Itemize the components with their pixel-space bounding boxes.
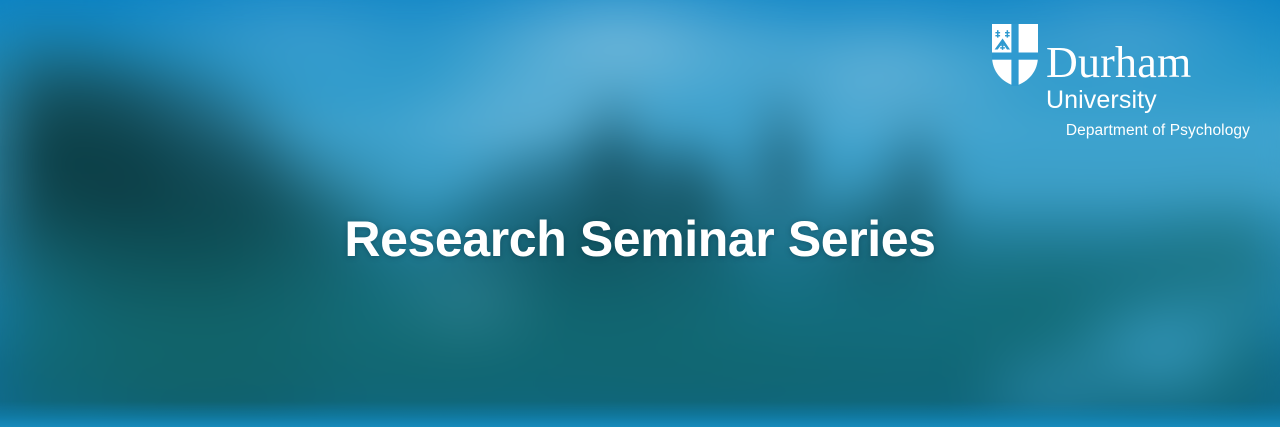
page-title: Research Seminar Series bbox=[0, 214, 1280, 264]
logo-department-name: Department of Psychology bbox=[1066, 122, 1250, 140]
research-seminar-series-banner: Research Seminar Series bbox=[0, 0, 1280, 427]
logo-organisation-subname: University bbox=[1046, 86, 1250, 115]
logo-organisation-name: Durham bbox=[1046, 42, 1250, 84]
durham-university-logo: Durham University Department of Psycholo… bbox=[990, 22, 1250, 140]
logo-wordmark: Durham University bbox=[1046, 42, 1250, 115]
durham-shield-icon bbox=[990, 22, 1040, 88]
banner-content: Research Seminar Series bbox=[0, 0, 1280, 427]
